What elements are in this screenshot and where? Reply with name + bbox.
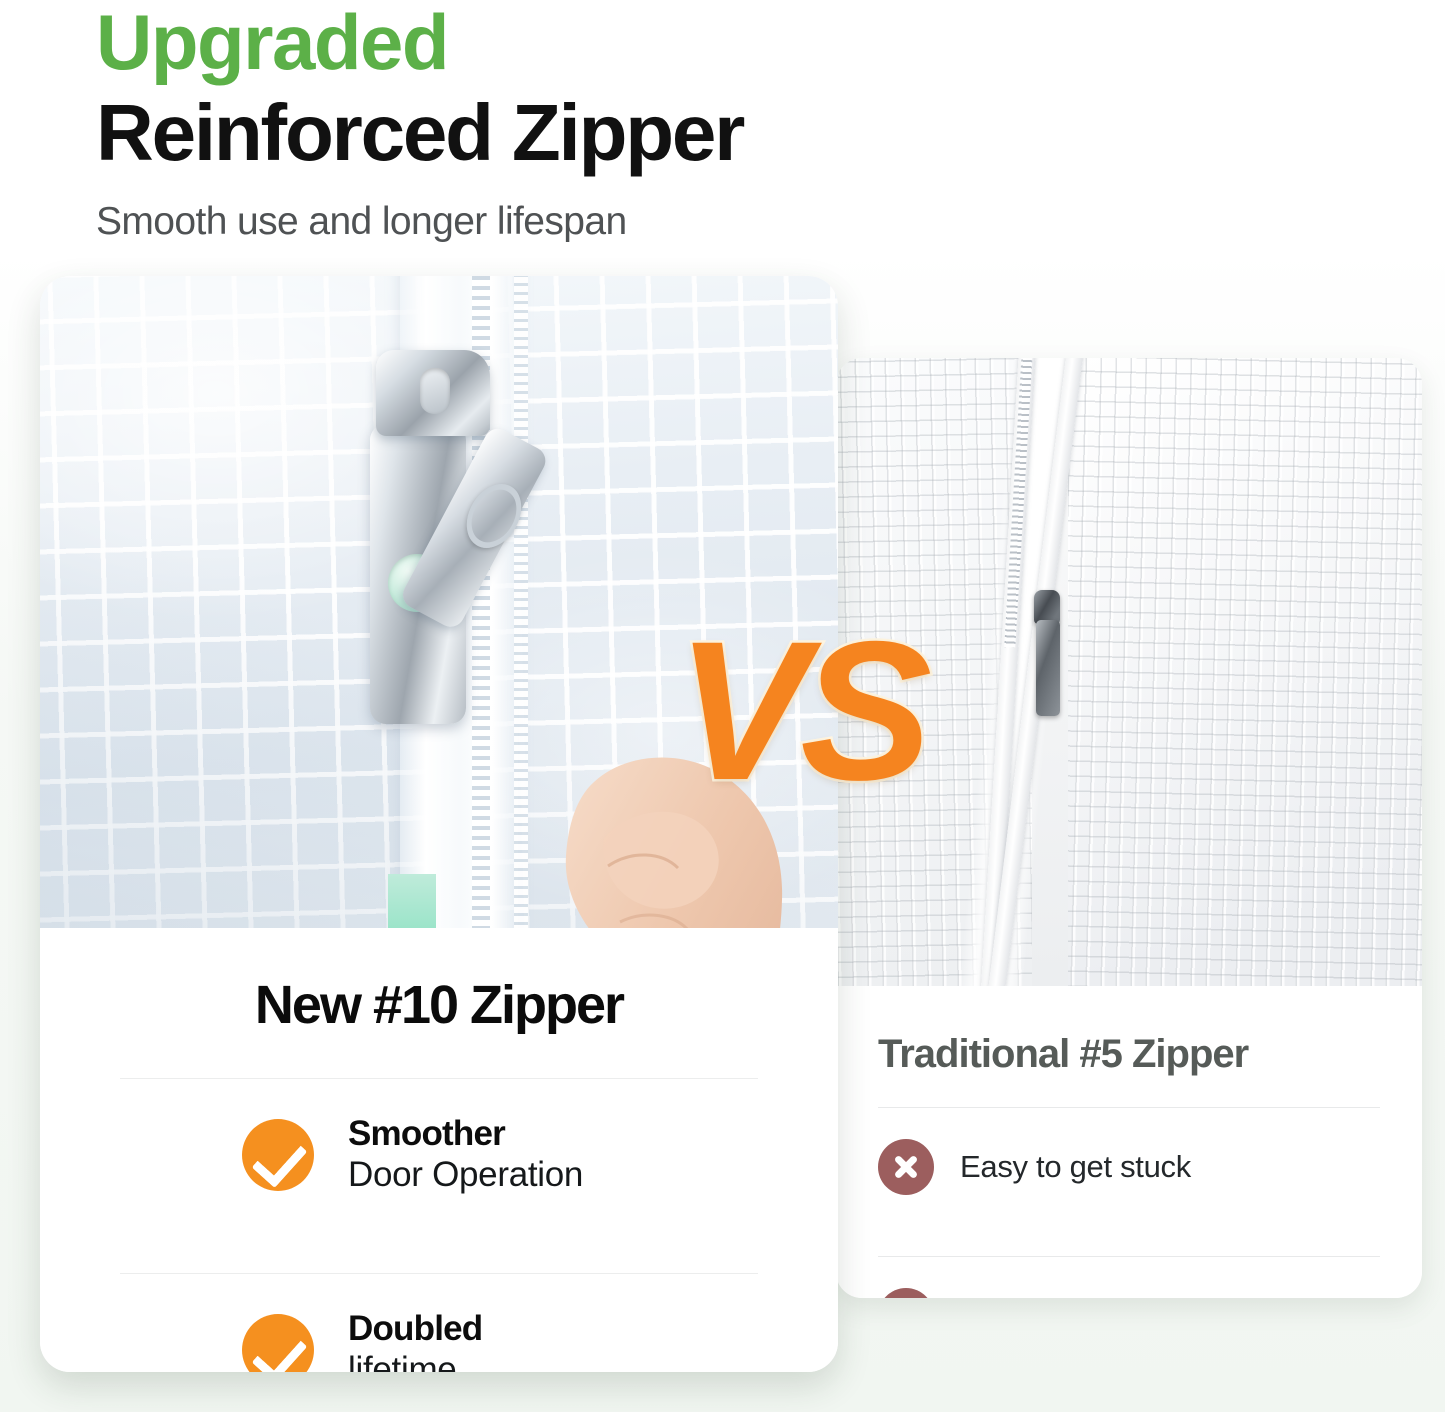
small-zipper-pull-icon (1036, 620, 1060, 716)
headline-subtitle: Smooth use and longer lifespan (96, 200, 1196, 244)
zipper-slider-hole (420, 368, 450, 414)
drawback-label: Easy to get stuck (960, 1149, 1191, 1185)
new-zipper-card: New #10 Zipper Smoother Door Operation D… (40, 928, 838, 1372)
new-zipper-panel: New #10 Zipper Smoother Door Operation D… (40, 276, 838, 1372)
drawback-row: Easy to get stuck (878, 1108, 1380, 1226)
mesh-fabric-right (1068, 358, 1422, 986)
feature-text: Doubled lifetime (348, 1308, 482, 1372)
feature-text: Smoother Door Operation (348, 1113, 583, 1197)
headline-block: Upgraded Reinforced Zipper Smooth use an… (96, 4, 1196, 244)
check-circle-icon (242, 1119, 314, 1191)
drawback-row: LIfetime of one year (878, 1257, 1380, 1298)
fine-mesh-texture-icon (1068, 358, 1422, 986)
green-down-arrow-icon (334, 874, 490, 928)
feature-row: Doubled lifetime (120, 1274, 758, 1372)
feature-headline: Doubled (348, 1309, 482, 1348)
traditional-zipper-card: Traditional #5 Zipper Easy to get stuck … (836, 986, 1422, 1298)
check-circle-icon (242, 1314, 314, 1372)
feature-detail: lifetime (348, 1350, 456, 1372)
vs-badge: VS (676, 612, 924, 810)
headline-line-upgraded: Upgraded (96, 4, 1196, 80)
page-root: Upgraded Reinforced Zipper Smooth use an… (0, 0, 1445, 1412)
feature-headline: Smoother (348, 1114, 505, 1153)
new-zipper-title: New #10 Zipper (120, 974, 758, 1036)
small-zipper-slider-icon (1034, 590, 1060, 624)
feature-row: Smoother Door Operation (120, 1079, 758, 1231)
headline-line-reinforced-zipper: Reinforced Zipper (96, 92, 1196, 174)
x-circle-icon (878, 1139, 934, 1195)
traditional-zipper-panel: Traditional #5 Zipper Easy to get stuck … (836, 358, 1422, 1298)
x-circle-icon (878, 1288, 934, 1298)
feature-detail: Door Operation (348, 1155, 583, 1194)
traditional-zipper-title: Traditional #5 Zipper (878, 1032, 1380, 1077)
